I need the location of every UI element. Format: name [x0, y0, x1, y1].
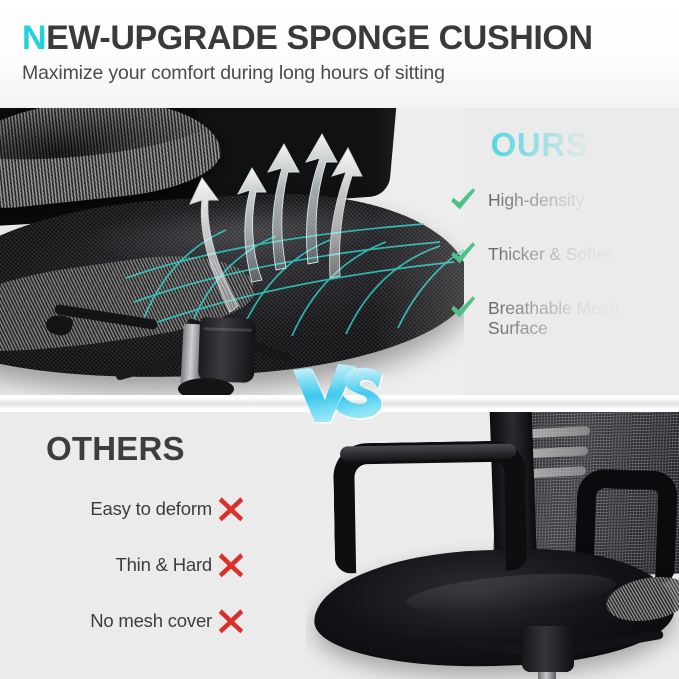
airflow-arrow-1	[190, 178, 238, 312]
pro-item: Breathable Mesh Surface	[448, 296, 670, 339]
competitor-armrest-front	[333, 440, 527, 573]
cross-icon	[216, 494, 246, 524]
title-rest: EW-UPGRADE SPONGE CUSHION	[46, 19, 592, 57]
check-icon	[448, 239, 478, 269]
ours-product-photo	[0, 108, 464, 395]
ours-panel: OURS High-density	[0, 108, 679, 395]
pro-item: High-density	[448, 188, 670, 215]
con-item-label: Thin & Hard	[115, 554, 212, 576]
cross-icon	[216, 606, 246, 636]
check-icon	[448, 185, 478, 215]
header-banner: NEW-UPGRADE SPONGE CUSHION Maximize your…	[0, 0, 679, 108]
ours-heading: OURS	[452, 126, 627, 164]
others-feature-list: OTHERS Easy to deform Thin & Hard	[24, 430, 274, 636]
chair-cylinder-cover	[198, 317, 256, 383]
con-item-label: No mesh cover	[90, 610, 212, 632]
competitor-cylinder-cover	[522, 626, 574, 672]
airflow-arrow-2	[238, 168, 266, 282]
section-divider	[0, 395, 679, 412]
airflow-arrow-3	[268, 144, 299, 270]
pro-item-label: High-density	[488, 188, 584, 210]
others-heading: OTHERS	[46, 430, 274, 468]
cons-list: Easy to deform Thin & Hard	[24, 494, 274, 636]
product-comparison-infographic: NEW-UPGRADE SPONGE CUSHION Maximize your…	[0, 0, 679, 679]
cross-icon	[216, 550, 246, 580]
con-item: Easy to deform	[24, 494, 246, 524]
chair-base-hub	[178, 378, 234, 395]
pro-item-label: Breathable Mesh Surface	[488, 296, 648, 339]
con-item-label: Easy to deform	[90, 498, 212, 520]
con-item: Thin & Hard	[24, 550, 246, 580]
page-subtitle: Maximize your comfort during long hours …	[22, 62, 659, 85]
others-panel: OTHERS Easy to deform Thin & Hard	[0, 412, 679, 679]
page-title: NEW-UPGRADE SPONGE CUSHION	[22, 20, 649, 57]
others-product-photo	[306, 412, 679, 679]
pros-list: High-density Thicker & Softer	[448, 188, 670, 339]
ours-feature-list: OURS High-density	[448, 126, 670, 339]
airflow-arrow-5	[330, 148, 362, 278]
pro-item: Thicker & Softer	[448, 242, 670, 269]
con-item: No mesh cover	[24, 606, 246, 636]
title-accent-letter: N	[22, 19, 46, 57]
check-icon	[448, 293, 478, 323]
pro-item-label: Thicker & Softer	[488, 242, 612, 264]
